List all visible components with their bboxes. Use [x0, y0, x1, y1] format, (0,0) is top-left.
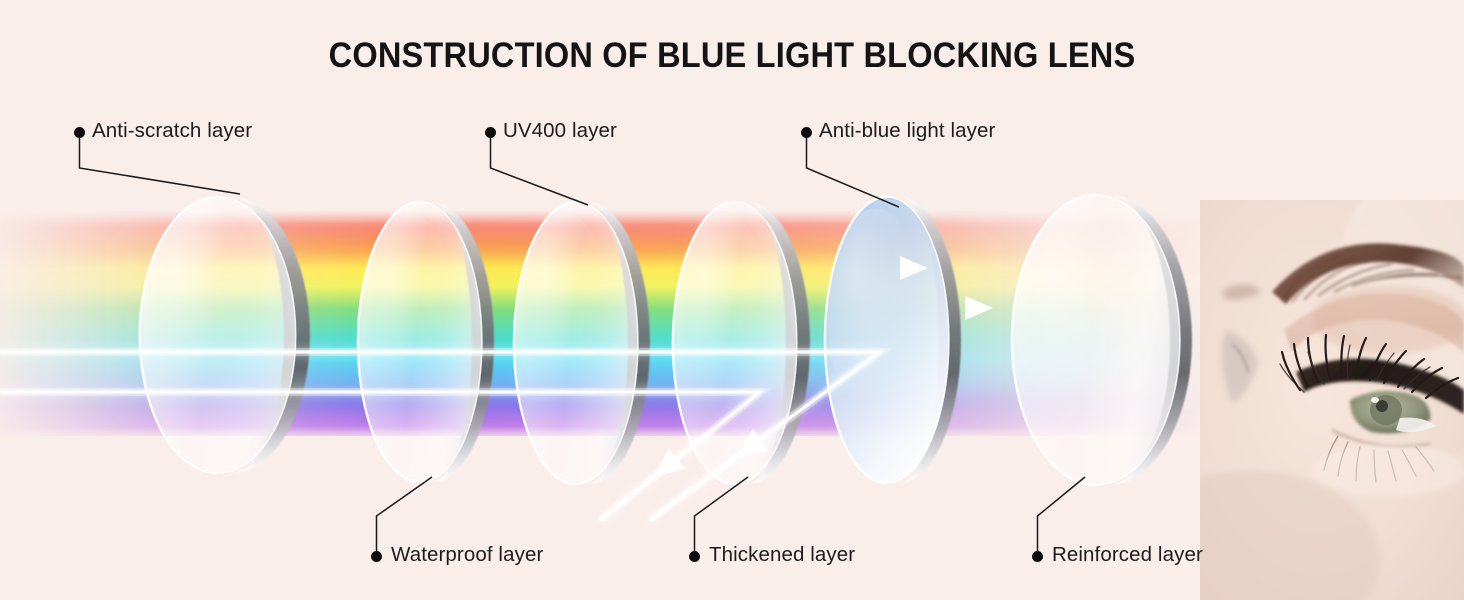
waterproof-lens: [358, 202, 494, 482]
layer-label-anti-scratch-layer: Anti-scratch layer: [92, 121, 252, 142]
uv400-lens: [514, 202, 650, 484]
reinforced-lens: [1012, 195, 1192, 485]
layer-label-uv400-layer: UV400 layer: [503, 121, 617, 142]
lens-diagram: [0, 0, 1464, 600]
layer-label-reinforced-layer: Reinforced layer: [1052, 545, 1203, 566]
anti-blue-lens: [825, 197, 961, 483]
layer-label-waterproof-layer: Waterproof layer: [391, 545, 543, 566]
infographic-canvas: CONSTRUCTION OF BLUE LIGHT BLOCKING LENS: [0, 0, 1464, 600]
leader-dot: [74, 127, 85, 138]
leader-dot: [689, 551, 700, 562]
leader-dot: [371, 551, 382, 562]
layer-label-thickened-layer: Thickened layer: [709, 545, 855, 566]
anti-scratch-lens: [140, 197, 310, 473]
layer-label-anti-blue-light-layer: Anti-blue light layer: [819, 121, 995, 142]
leader-dot: [485, 127, 496, 138]
leader-dot: [801, 127, 812, 138]
leader-dot: [1032, 551, 1043, 562]
